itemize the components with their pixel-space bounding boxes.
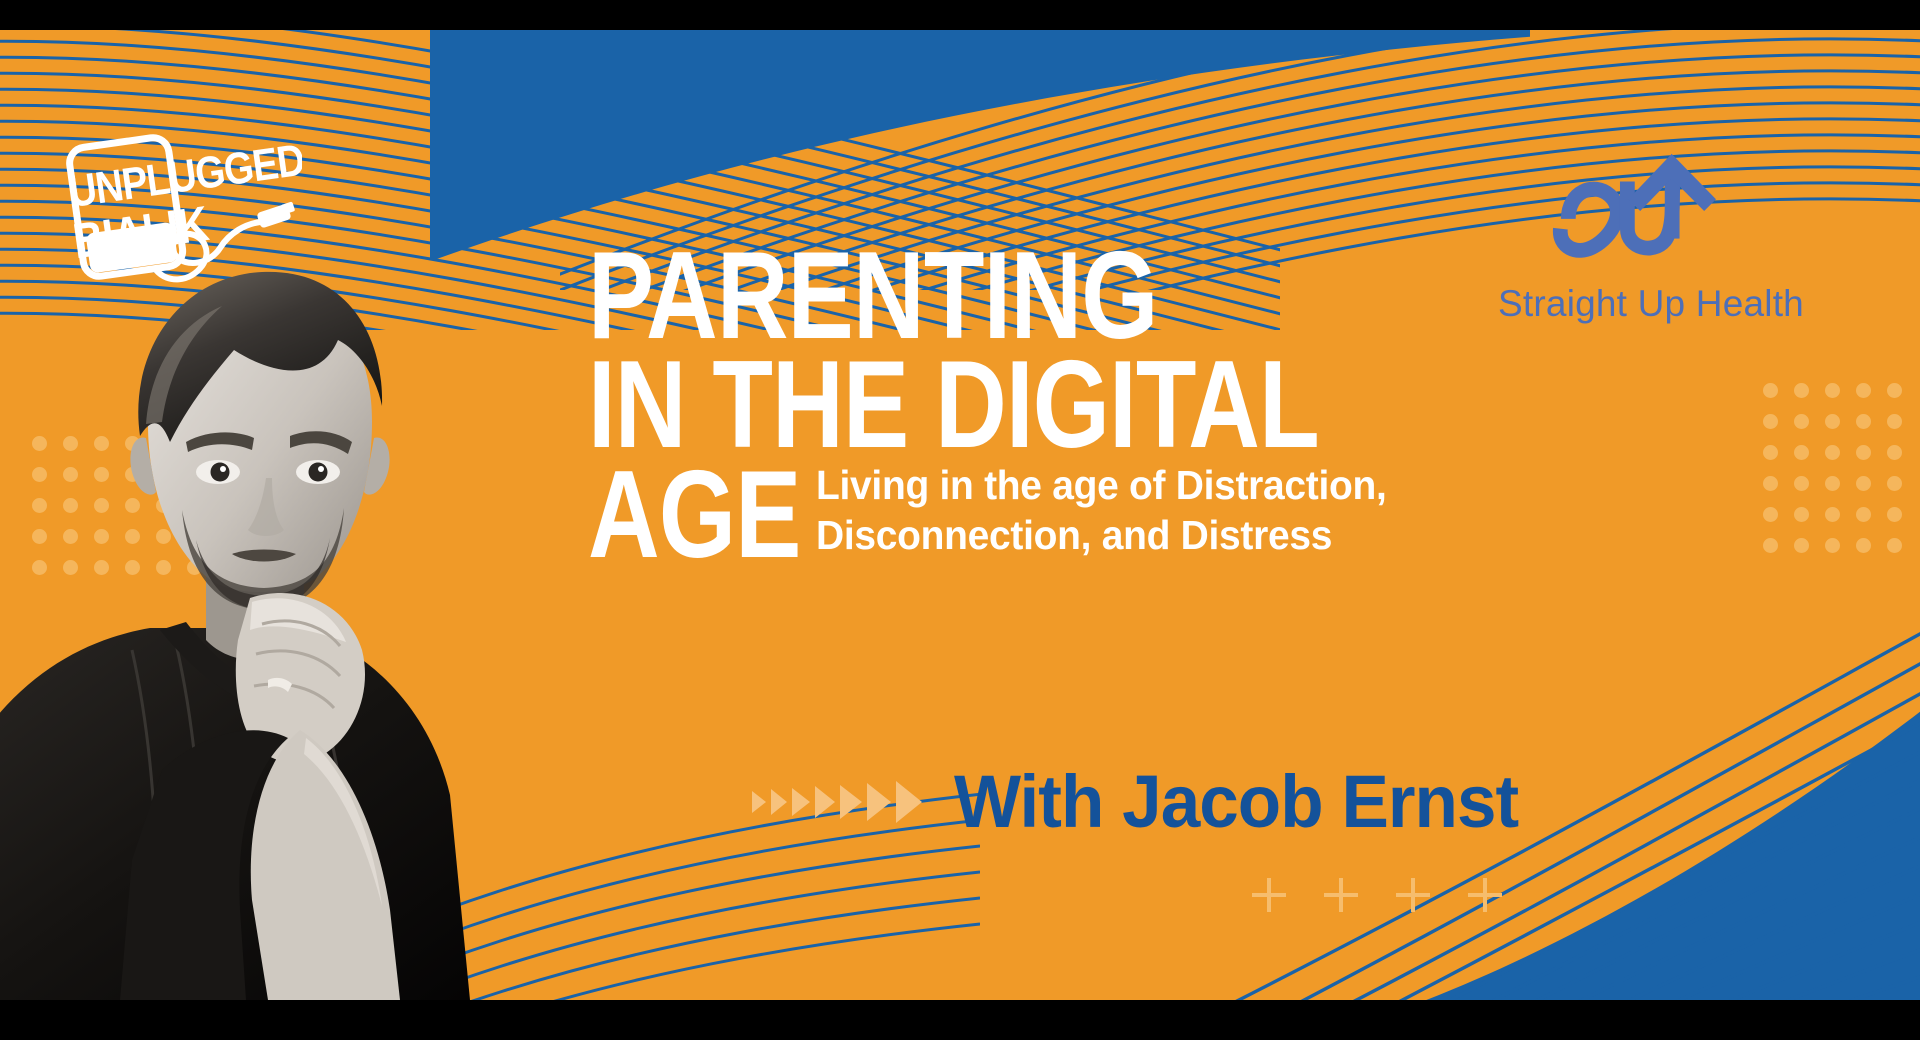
triangle-right-icon: [840, 785, 862, 819]
promo-banner: UNPLUGGED BIALIK: [0, 0, 1920, 1040]
triangle-right-icon: [815, 786, 835, 818]
jacob-ernst-portrait: [0, 210, 520, 1000]
blue-swoosh-top: [430, 30, 1530, 260]
dot: [1887, 507, 1902, 522]
triangle-right-icon: [752, 791, 766, 813]
dot: [1856, 445, 1871, 460]
banner-canvas: UNPLUGGED BIALIK: [0, 30, 1920, 1000]
subtitle-line-1: Living in the age of Distraction,: [816, 460, 1387, 510]
dot: [1856, 507, 1871, 522]
triangle-right-icon: [792, 788, 810, 816]
plus-icon: [1324, 878, 1358, 912]
subtitle-line-2: Disconnection, and Distress: [816, 510, 1387, 560]
plus-icon: [1252, 878, 1286, 912]
blue-swoosh-bottom-right: [1360, 700, 1920, 1000]
headline-subtitle-row: AGE Living in the age of Distraction, Di…: [588, 460, 1848, 570]
arrow-marker-group: [752, 781, 922, 823]
headline-block: PARENTING IN THE DIGITAL AGE Living in t…: [588, 242, 1848, 570]
subtitle-block: Living in the age of Distraction, Discon…: [816, 460, 1417, 570]
triangle-right-icon: [867, 783, 891, 821]
plus-decoration-row: [1252, 878, 1502, 912]
dot: [1856, 538, 1871, 553]
triangle-right-icon: [896, 781, 922, 823]
presenter-name: With Jacob Ernst: [954, 765, 1518, 839]
dot: [1887, 445, 1902, 460]
plus-icon: [1468, 878, 1502, 912]
dot: [1887, 414, 1902, 429]
plus-icon: [1396, 878, 1430, 912]
presenter-row: With Jacob Ernst: [752, 765, 1542, 839]
headline-line-2: IN THE DIGITAL: [588, 351, 1596, 460]
dot: [1887, 476, 1902, 491]
triangle-right-icon: [771, 789, 787, 815]
dot: [1887, 538, 1902, 553]
dot: [1856, 476, 1871, 491]
unplugged-bialik-logo: UNPLUGGED BIALIK: [52, 128, 302, 288]
dot: [1887, 383, 1902, 398]
headline-line-1: PARENTING: [588, 242, 1596, 351]
dot: [1856, 383, 1871, 398]
headline-line-3: AGE: [588, 461, 801, 570]
dot: [1856, 414, 1871, 429]
